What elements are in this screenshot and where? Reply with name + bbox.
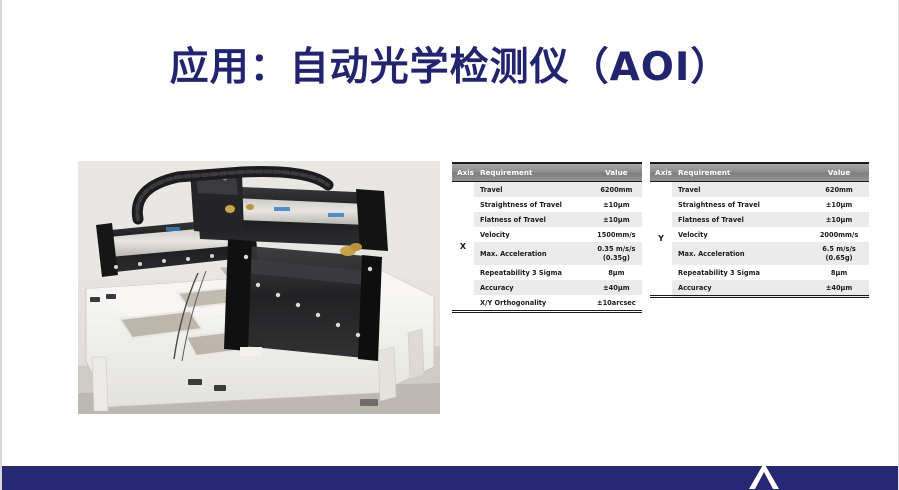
x-table-header: Axis Requirement Value — [452, 163, 642, 182]
table-row: Flatness of Travel ±10µm — [452, 212, 642, 227]
row-requirement: Straightness of Travel — [474, 197, 591, 212]
table-row: Straightness of Travel ±10µm — [452, 197, 642, 212]
row-value: ±10µm — [591, 197, 642, 212]
row-value: 620mm — [809, 182, 869, 198]
row-requirement: Repeatability 3 Sigma — [474, 265, 591, 280]
header-requirement: Requirement — [474, 163, 591, 182]
row-value: ±40µm — [809, 280, 869, 297]
row-value: ±40µm — [591, 280, 642, 295]
x-table-body: X Travel 6200mm Straightness of Travel ±… — [452, 182, 642, 312]
row-value-secondary: (0.35g) — [591, 254, 642, 262]
row-requirement: Accuracy — [474, 280, 591, 295]
row-requirement: Flatness of Travel — [672, 212, 809, 227]
row-requirement: Travel — [672, 182, 809, 198]
header-value: Value — [591, 163, 642, 182]
row-value: 6.5 m/s/s (0.65g) — [809, 242, 869, 265]
y-table-body: Y Travel 620mm Straightness of Travel ±1… — [650, 182, 869, 297]
row-value: 8µm — [591, 265, 642, 280]
table-row: Straightness of Travel ±10µm — [650, 197, 869, 212]
table-row: Y Travel 620mm — [650, 182, 869, 198]
table-row: Velocity 2000mm/s — [650, 227, 869, 242]
row-value: ±10µm — [809, 197, 869, 212]
slide-canvas: 应用：自动光学检测仪（AOI） — [0, 0, 899, 490]
triangle-a-logo-icon — [747, 462, 781, 490]
machine-photo-illustration — [78, 161, 440, 414]
row-requirement: Velocity — [672, 227, 809, 242]
table-row: Flatness of Travel ±10µm — [650, 212, 869, 227]
row-value-secondary: (0.65g) — [809, 254, 869, 262]
row-value-primary: 0.35 m/s/s — [591, 245, 642, 253]
axis-label-x: X — [452, 182, 474, 312]
y-axis-spec-table: Axis Requirement Value Y Travel 620mm St… — [650, 162, 869, 298]
row-value-primary: 6.5 m/s/s — [809, 245, 869, 253]
header-requirement: Requirement — [672, 163, 809, 182]
row-requirement: Straightness of Travel — [672, 197, 809, 212]
header-axis: Axis — [452, 163, 474, 182]
header-axis: Axis — [650, 163, 672, 182]
row-value: ±10arcsec — [591, 295, 642, 312]
table-header-row: Axis Requirement Value — [650, 163, 869, 182]
row-value: 0.35 m/s/s (0.35g) — [591, 242, 642, 265]
row-requirement: Travel — [474, 182, 591, 198]
row-requirement: Accuracy — [672, 280, 809, 297]
page-title: 应用：自动光学检测仪（AOI） — [2, 36, 898, 92]
header-value: Value — [809, 163, 869, 182]
row-value: ±10µm — [809, 212, 869, 227]
table-row: Max. Acceleration 0.35 m/s/s (0.35g) — [452, 242, 642, 265]
x-axis-spec-table: Axis Requirement Value X Travel 6200mm S… — [452, 162, 642, 313]
row-value: 8µm — [809, 265, 869, 280]
row-requirement: Flatness of Travel — [474, 212, 591, 227]
row-value: 1500mm/s — [591, 227, 642, 242]
table-row: Accuracy ±40µm — [650, 280, 869, 297]
row-requirement: Max. Acceleration — [474, 242, 591, 265]
row-value: ±10µm — [591, 212, 642, 227]
table-row: Repeatability 3 Sigma 8µm — [452, 265, 642, 280]
row-requirement: Repeatability 3 Sigma — [672, 265, 809, 280]
row-requirement: Velocity — [474, 227, 591, 242]
table-row: Accuracy ±40µm — [452, 280, 642, 295]
table-header-row: Axis Requirement Value — [452, 163, 642, 182]
table-row: Max. Acceleration 6.5 m/s/s (0.65g) — [650, 242, 869, 265]
table-row: X Travel 6200mm — [452, 182, 642, 198]
y-table-header: Axis Requirement Value — [650, 163, 869, 182]
table-row: Velocity 1500mm/s — [452, 227, 642, 242]
table-row: X/Y Orthogonality ±10arcsec — [452, 295, 642, 312]
row-requirement: X/Y Orthogonality — [474, 295, 591, 312]
row-requirement: Max. Acceleration — [672, 242, 809, 265]
table-row: Repeatability 3 Sigma 8µm — [650, 265, 869, 280]
axis-label-y: Y — [650, 182, 672, 297]
machine-photo — [78, 161, 440, 414]
row-value: 2000mm/s — [809, 227, 869, 242]
row-value: 6200mm — [591, 182, 642, 198]
